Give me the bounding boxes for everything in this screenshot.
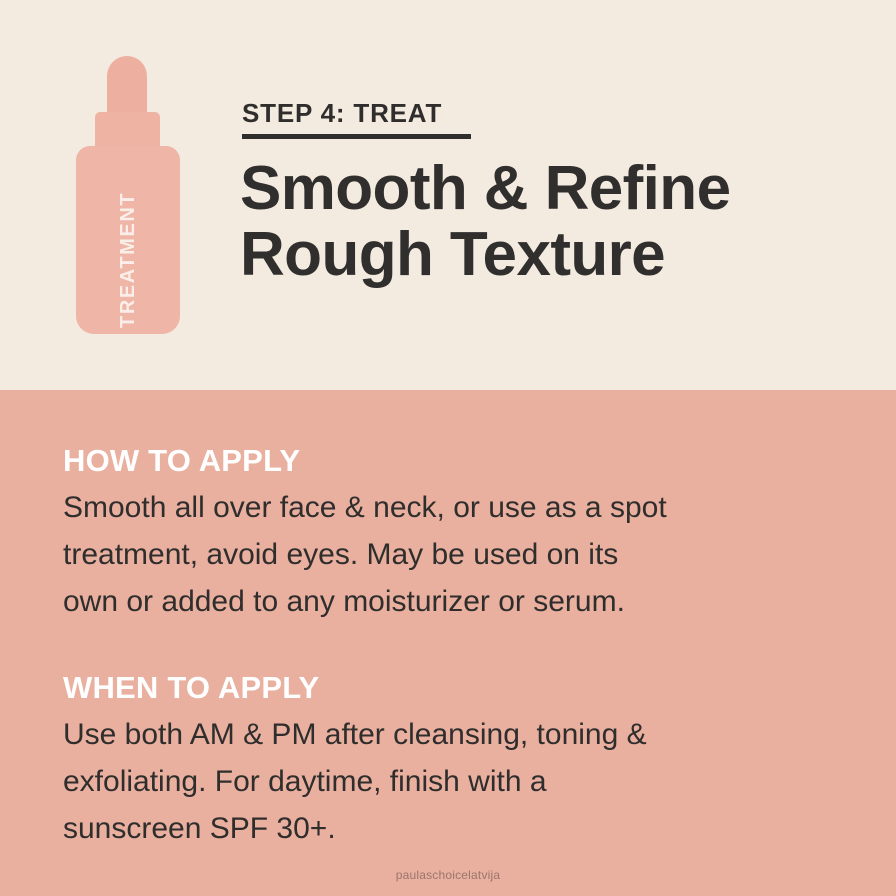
- page-title-line-1: Smooth & Refine: [240, 156, 860, 222]
- page-title-line-2: Rough Texture: [240, 222, 860, 288]
- section-when-to-apply-body: Use both AM & PM after cleansing, toning…: [63, 712, 858, 852]
- step-eyebrow-underline: [242, 134, 471, 139]
- dropper-bottle-icon: TREATMENT: [76, 56, 180, 334]
- bottle-label: TREATMENT: [76, 146, 180, 334]
- body-line: sunscreen SPF 30+.: [63, 806, 858, 853]
- step-eyebrow-text: STEP 4: TREAT: [242, 99, 471, 128]
- body-line: own or added to any moisturizer or serum…: [63, 579, 858, 626]
- section-how-to-apply-body: Smooth all over face & neck, or use as a…: [63, 485, 858, 625]
- section-how-to-apply-title: HOW TO APPLY: [63, 444, 863, 478]
- body-line: treatment, avoid eyes. May be used on it…: [63, 532, 858, 579]
- instructions-panel: HOW TO APPLY Smooth all over face & neck…: [0, 390, 896, 896]
- watermark-text: paulaschoicelatvija: [0, 868, 896, 882]
- body-line: Smooth all over face & neck, or use as a…: [63, 485, 858, 532]
- body-line: exfoliating. For daytime, finish with a: [63, 759, 858, 806]
- dropper-bulb-shape: [107, 56, 147, 116]
- section-how-to-apply: HOW TO APPLY Smooth all over face & neck…: [63, 444, 863, 625]
- step-eyebrow: STEP 4: TREAT: [242, 99, 471, 139]
- bottle-label-text: TREATMENT: [118, 192, 138, 328]
- page-title: Smooth & Refine Rough Texture: [240, 156, 860, 289]
- section-when-to-apply-title: WHEN TO APPLY: [63, 671, 863, 705]
- section-when-to-apply: WHEN TO APPLY Use both AM & PM after cle…: [63, 671, 863, 852]
- hero-section: TREATMENT STEP 4: TREAT Smooth & Refine …: [0, 0, 896, 390]
- body-line: Use both AM & PM after cleansing, toning…: [63, 712, 858, 759]
- step-card: TREATMENT STEP 4: TREAT Smooth & Refine …: [0, 0, 896, 896]
- bottle-body-shape: TREATMENT: [76, 146, 180, 334]
